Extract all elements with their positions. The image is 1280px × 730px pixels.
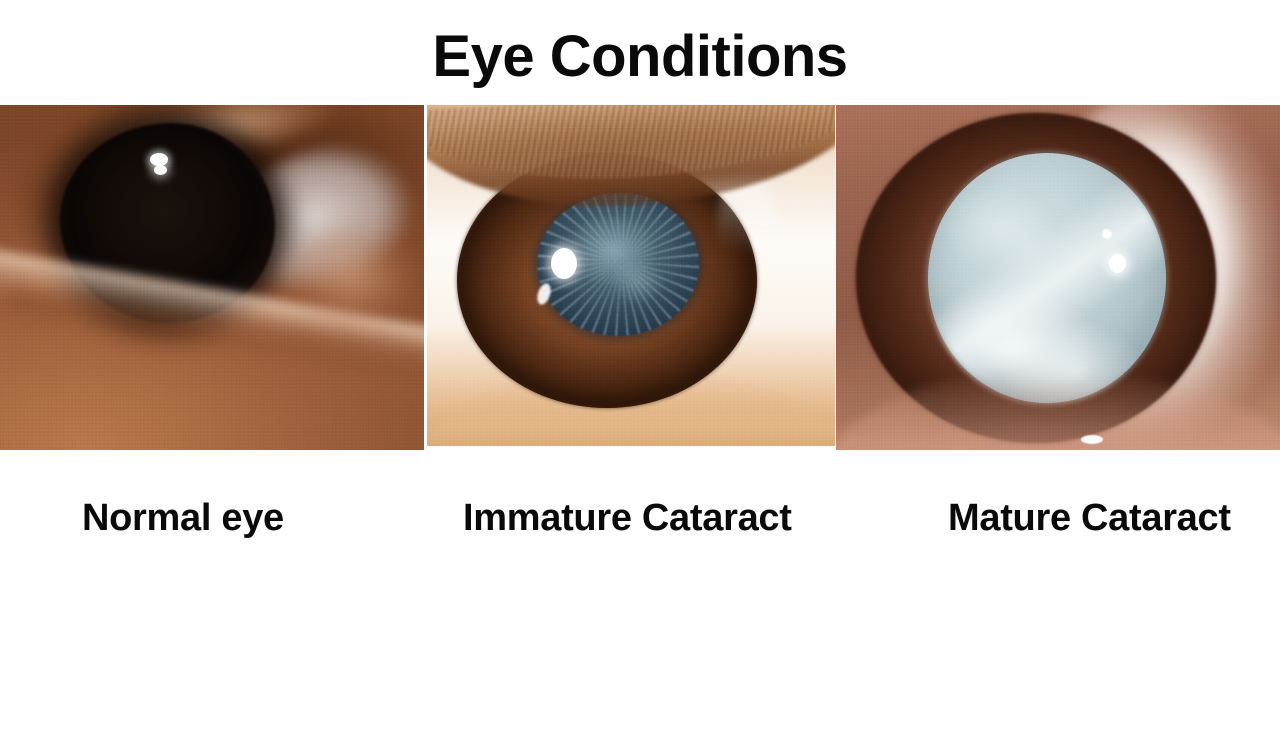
panel-mature-cataract <box>836 105 1280 450</box>
eye-conditions-figure: Eye Conditions <box>0 0 1280 730</box>
caption-immature-cataract: Immature Cataract <box>463 496 792 540</box>
photo-strip <box>0 105 1280 450</box>
caption-normal-eye: Normal eye <box>82 496 284 540</box>
photo-grain <box>427 105 835 446</box>
photo-grain <box>0 105 424 450</box>
panel-immature-cataract <box>427 105 835 446</box>
caption-mature-cataract: Mature Cataract <box>948 496 1231 540</box>
photo-normal-eye <box>0 105 424 450</box>
panel-normal-eye <box>0 105 424 450</box>
photo-mature-cataract <box>836 105 1280 450</box>
page-title: Eye Conditions <box>0 28 1280 86</box>
photo-grain <box>836 105 1280 450</box>
caption-row: Normal eye Immature Cataract Mature Cata… <box>0 496 1280 546</box>
photo-immature-cataract <box>427 105 835 446</box>
